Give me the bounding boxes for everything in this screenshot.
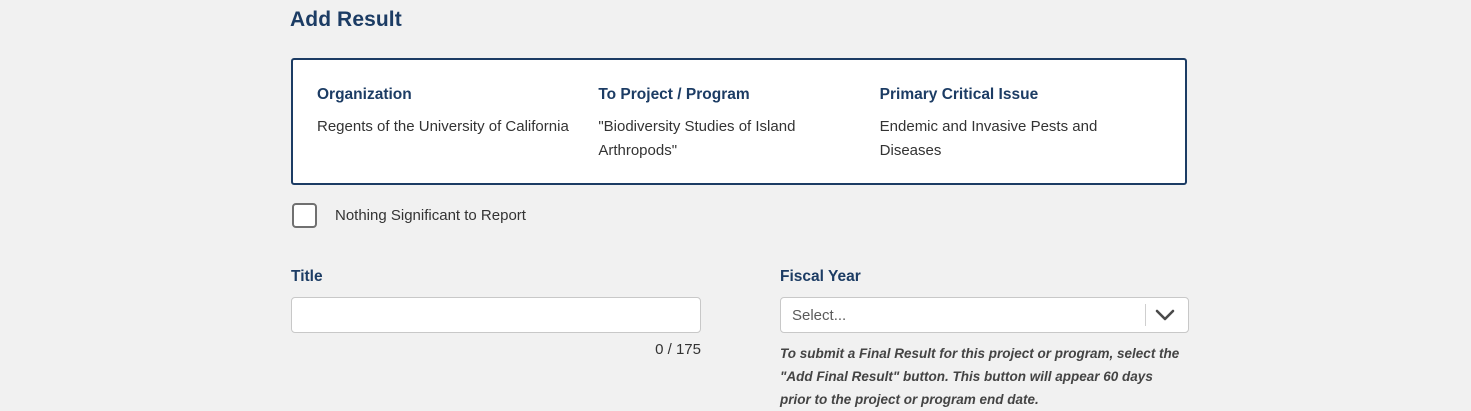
- to-project-program-value: "Biodiversity Studies of Island Arthropo…: [598, 115, 853, 163]
- info-column-project-program: To Project / Program "Biodiversity Studi…: [598, 86, 879, 163]
- fiscal-year-field-group: Fiscal Year Select... To submit a Final …: [780, 268, 1189, 411]
- nothing-significant-label: Nothing Significant to Report: [335, 207, 526, 224]
- organization-label: Organization: [317, 86, 572, 104]
- title-input[interactable]: [291, 297, 701, 333]
- info-column-organization: Organization Regents of the University o…: [317, 86, 598, 163]
- organization-value: Regents of the University of California: [317, 115, 572, 139]
- result-context-card: Organization Regents of the University o…: [291, 58, 1187, 185]
- page-title: Add Result: [290, 8, 402, 32]
- title-label: Title: [291, 268, 701, 286]
- chevron-down-icon[interactable]: [1152, 298, 1178, 332]
- info-column-primary-critical-issue: Primary Critical Issue Endemic and Invas…: [880, 86, 1161, 163]
- nothing-significant-row[interactable]: Nothing Significant to Report: [292, 203, 526, 228]
- fiscal-year-select[interactable]: Select...: [780, 297, 1189, 333]
- select-divider: [1145, 304, 1146, 326]
- title-field-group: Title 0 / 175: [291, 268, 701, 358]
- title-char-counter: 0 / 175: [291, 341, 701, 358]
- fiscal-year-help-text: To submit a Final Result for this projec…: [780, 342, 1180, 411]
- primary-critical-issue-label: Primary Critical Issue: [880, 86, 1135, 104]
- primary-critical-issue-value: Endemic and Invasive Pests and Diseases: [880, 115, 1135, 163]
- add-result-page: Add Result Organization Regents of the U…: [0, 0, 1471, 407]
- fiscal-year-selected-value: Select...: [781, 307, 846, 324]
- to-project-program-label: To Project / Program: [598, 86, 853, 104]
- fiscal-year-label: Fiscal Year: [780, 268, 1189, 286]
- nothing-significant-checkbox[interactable]: [292, 203, 317, 228]
- result-context-grid: Organization Regents of the University o…: [293, 60, 1185, 163]
